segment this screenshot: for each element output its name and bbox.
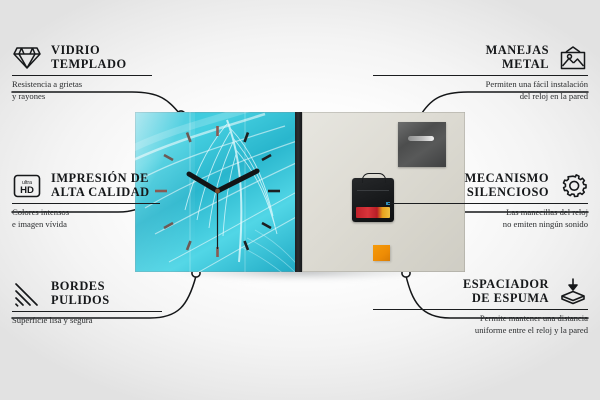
feature-description: Las manecillas del reloj no emiten ningú… bbox=[388, 207, 588, 230]
feature-title-line2: SILENCIOSO bbox=[465, 186, 549, 200]
feature-title-line1: BORDES bbox=[51, 280, 110, 294]
arrow-onto-foam-pad-icon bbox=[558, 278, 588, 306]
feature-rule bbox=[12, 203, 160, 204]
feature-title-line1: MANEJAS bbox=[486, 44, 549, 58]
feature-description-line1: Resistencia a grietas bbox=[12, 79, 212, 90]
feature-description-line1: Las manecillas del reloj bbox=[388, 207, 588, 218]
infographic-canvas: VIDRIO TEMPLADO Resistencia a grietas y … bbox=[0, 0, 600, 400]
feature-description-line2: del reloj en la pared bbox=[373, 91, 588, 102]
feature-rule bbox=[388, 203, 588, 204]
feature-impresion-alta-calidad: ultra HD IMPRESIÓN DE ALTA CALIDAD Color… bbox=[12, 172, 227, 230]
feature-vidrio-templado: VIDRIO TEMPLADO Resistencia a grietas y … bbox=[12, 44, 212, 102]
feature-title-line2: DE ESPUMA bbox=[463, 292, 549, 306]
ultra-hd-badge-large-text: HD bbox=[20, 185, 34, 196]
feature-rule bbox=[12, 311, 162, 312]
feature-description-line2: uniforme entre el reloj y la pared bbox=[373, 325, 588, 336]
feature-espaciador-espuma: ESPACIADOR DE ESPUMA Permite mantener un… bbox=[373, 278, 588, 336]
hanger-slot bbox=[408, 136, 434, 141]
battery bbox=[356, 207, 390, 218]
feature-title-line2: METAL bbox=[486, 58, 549, 72]
movement-bail bbox=[362, 173, 386, 183]
feature-title-line2: TEMPLADO bbox=[51, 58, 127, 72]
feature-rule bbox=[373, 309, 588, 310]
feature-title-line1: ESPACIADOR bbox=[463, 278, 549, 292]
feature-description-line2: y rayones bbox=[12, 91, 212, 102]
feature-description-line1: Superficie lisa y segura bbox=[12, 315, 222, 326]
hanging-picture-frame-icon bbox=[558, 45, 588, 71]
foam-spacer bbox=[373, 245, 390, 261]
gear-icon bbox=[558, 173, 588, 199]
feature-description-line2: e imagen vívida bbox=[12, 219, 227, 230]
diamond-icon bbox=[12, 45, 42, 71]
feature-bordes-pulidos: BORDES PULIDOS Superficie lisa y segura bbox=[12, 280, 222, 327]
feature-title-line2: PULIDOS bbox=[51, 294, 110, 308]
feature-description-line1: Colores intensos bbox=[12, 207, 227, 218]
feature-manejas-metal: MANEJAS METAL Permiten una fácil instala… bbox=[373, 44, 588, 102]
feature-title-line1: MECANISMO bbox=[465, 172, 549, 186]
movement-seam bbox=[357, 190, 389, 191]
feature-description: Colores intensos e imagen vívida bbox=[12, 207, 227, 230]
feature-rule bbox=[373, 75, 588, 76]
feature-mecanismo-silencioso: MECANISMO SILENCIOSO Las manecillas del … bbox=[388, 172, 588, 230]
feature-description: Superficie lisa y segura bbox=[12, 315, 222, 326]
beveled-edge-icon bbox=[12, 281, 42, 307]
feature-description-line2: no emiten ningún sonido bbox=[388, 219, 588, 230]
feature-description-line1: Permiten una fácil instalación bbox=[373, 79, 588, 90]
feature-title-line1: VIDRIO bbox=[51, 44, 127, 58]
feature-title-line1: IMPRESIÓN DE bbox=[51, 172, 150, 186]
feature-description-line1: Permite mantener una distancia bbox=[373, 313, 588, 324]
feature-title-line2: ALTA CALIDAD bbox=[51, 186, 150, 200]
metal-hanger-plate bbox=[398, 122, 446, 167]
feature-rule bbox=[12, 75, 152, 76]
ultra-hd-badge-icon: ultra HD bbox=[12, 173, 42, 199]
clock-side-edge bbox=[295, 112, 302, 272]
feature-description: Permite mantener una distancia uniforme … bbox=[373, 313, 588, 336]
feature-description: Resistencia a grietas y rayones bbox=[12, 79, 212, 102]
feature-description: Permiten una fácil instalación del reloj… bbox=[373, 79, 588, 102]
